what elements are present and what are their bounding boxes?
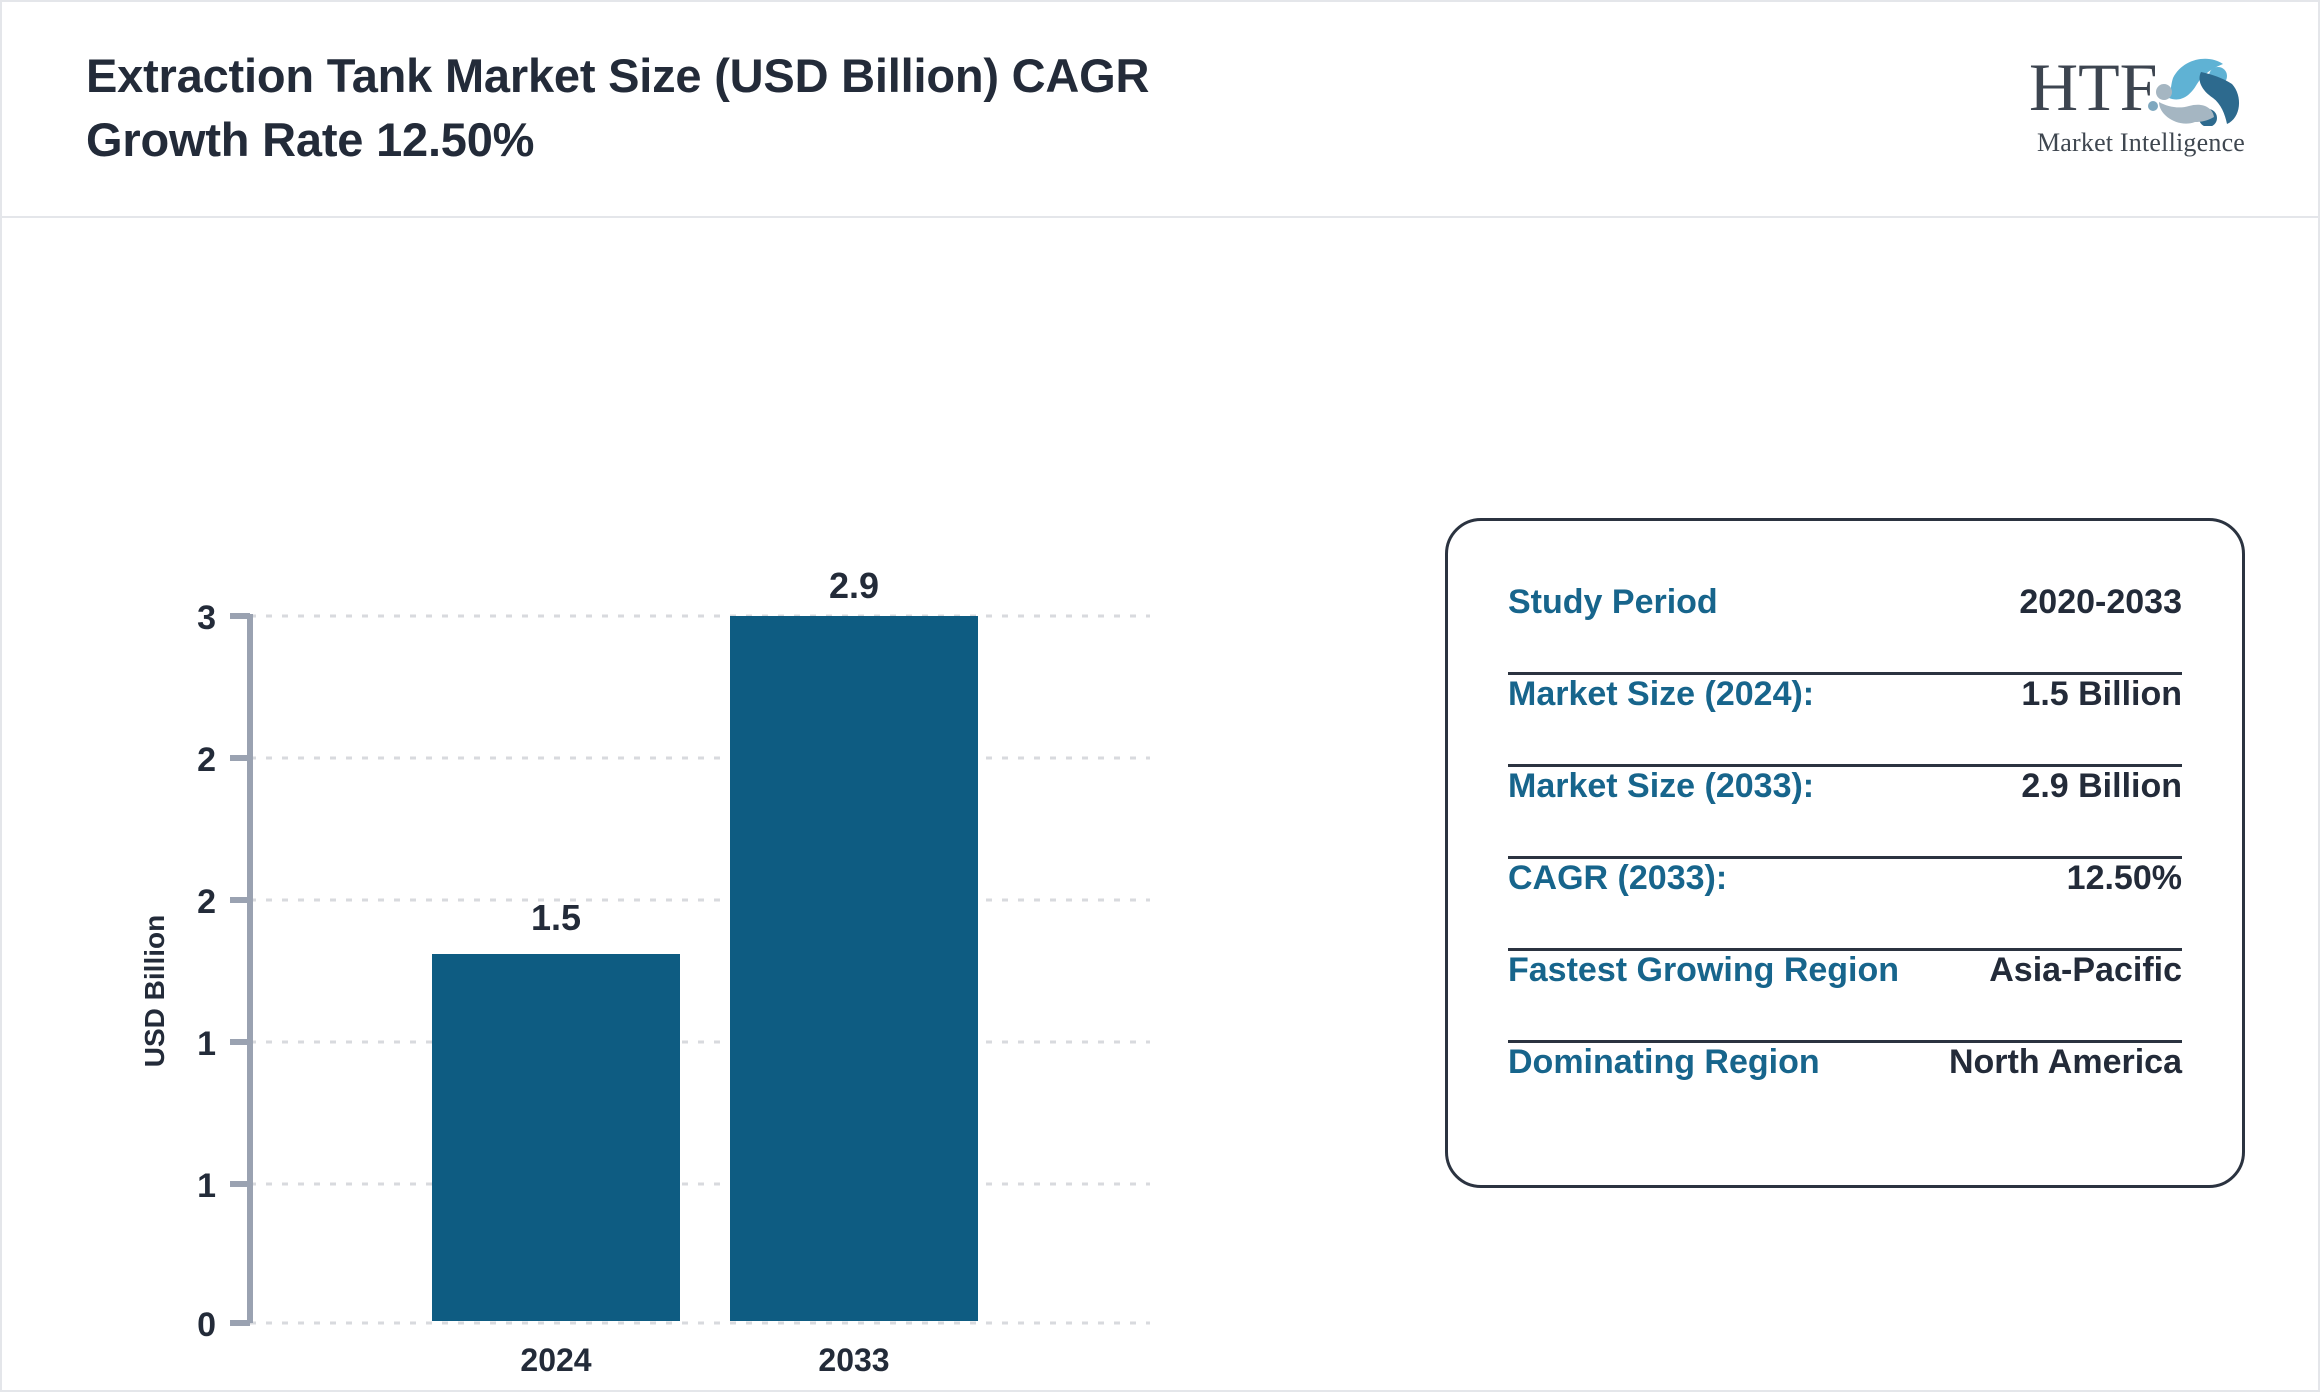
gridlines [250,616,1150,1323]
y-tick-label-1: 2 [197,741,216,779]
card-value-market-size-2033: 2.9 Billion [2021,767,2182,806]
bar-2033[interactable] [730,616,978,1321]
card-label-fastest-growing-region: Fastest Growing Region [1508,951,1899,990]
y-tick-label-4: 1 [197,1167,216,1205]
card-value-fastest-growing-region: Asia-Pacific [1989,951,2182,990]
card-value-dominating-region: North America [1949,1043,2182,1082]
x-tick-label-2033: 2033 [818,1342,889,1378]
htf-logo: HTF Market Intelligence [2026,44,2256,158]
card-row-market-size-2033: Market Size (2033): 2.9 Billion [1508,767,2182,859]
card-label-study-period: Study Period [1508,583,1718,622]
x-tick-label-2024: 2024 [520,1342,591,1378]
card-value-cagr-2033: 12.50% [2067,859,2182,898]
bar-label-2024: 1.5 [531,897,581,938]
x-axis-tick-labels: 2024 2033 [520,1342,889,1378]
card-row-cagr-2033: CAGR (2033): 12.50% [1508,859,2182,951]
bar-chart-svg: 3 2 2 1 1 0 USD Billion 1.5 2.9 [2,218,1382,1390]
card-label-market-size-2024: Market Size (2024): [1508,675,1814,714]
card-row-fastest-growing-region: Fastest Growing Region Asia-Pacific [1508,951,2182,1043]
y-axis-title: USD Billion [139,915,170,1067]
card-value-study-period: 2020-2033 [2019,583,2182,622]
card-row-study-period: Study Period 2020-2033 [1508,583,2182,675]
y-tick-label-0: 3 [197,599,216,637]
header: Extraction Tank Market Size (USD Billion… [2,2,2318,218]
y-tick-label-5: 0 [197,1306,216,1344]
logo-tagline: Market Intelligence [2037,128,2245,158]
body-area: 3 2 2 1 1 0 USD Billion 1.5 2.9 [2,218,2318,1390]
card-value-market-size-2024: 1.5 Billion [2021,675,2182,714]
bar-label-2033: 2.9 [829,565,879,606]
card-label-cagr-2033: CAGR (2033): [1508,859,1727,898]
page-title: Extraction Tank Market Size (USD Billion… [86,44,1149,172]
logo-wordmark-text: HTF [2029,49,2157,125]
bar-2024[interactable] [432,954,680,1321]
bar-chart: 3 2 2 1 1 0 USD Billion 1.5 2.9 [2,218,1382,1390]
card-row-market-size-2024: Market Size (2024): 1.5 Billion [1508,675,2182,767]
htf-logo-mark: HTF [2027,48,2255,126]
page-title-line-1: Extraction Tank Market Size (USD Billion… [86,49,1149,102]
y-axis-tick-labels: 3 2 2 1 1 0 [197,599,216,1344]
card-row-dominating-region: Dominating Region North America [1508,1043,2182,1135]
card-label-dominating-region: Dominating Region [1508,1043,1820,1082]
htf-triskelion-people-icon [2148,59,2239,126]
page-title-line-2: Growth Rate 12.50% [86,113,534,166]
card-label-market-size-2033: Market Size (2033): [1508,767,1814,806]
market-summary-card: Study Period 2020-2033 Market Size (2024… [1445,518,2245,1188]
market-size-infographic: Extraction Tank Market Size (USD Billion… [0,0,2320,1392]
y-tick-label-3: 1 [197,1025,216,1063]
y-tick-label-2: 2 [197,883,216,921]
